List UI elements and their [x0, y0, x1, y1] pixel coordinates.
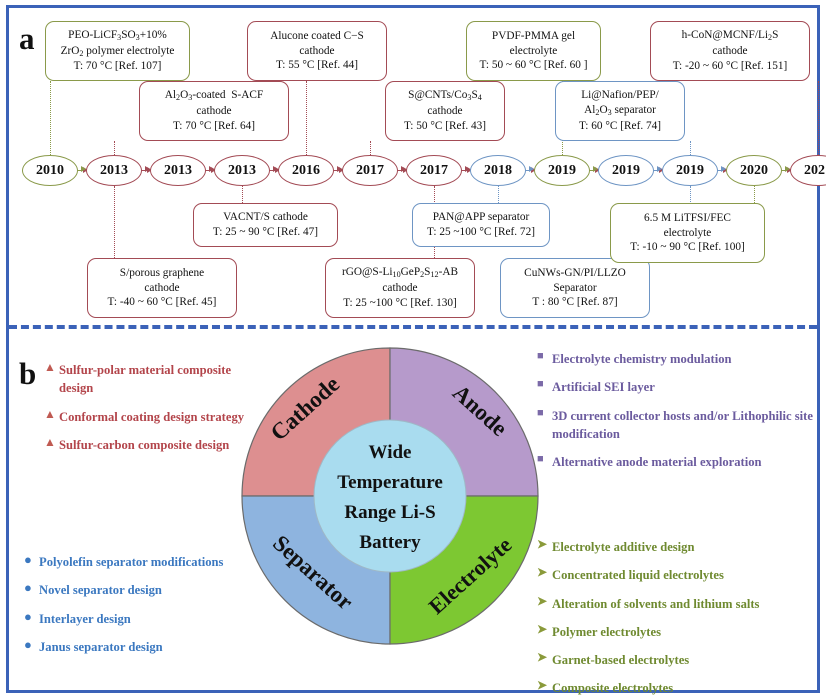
timeline-year-node[interactable]: 2013: [214, 155, 270, 186]
timeline-event-line: PAN@APP separator: [433, 210, 530, 225]
electrolyte-list-item[interactable]: ➤Alteration of solvents and lithium salt…: [537, 595, 815, 613]
timeline-event-line: PVDF-PMMA gel: [492, 29, 575, 44]
timeline-connector: [306, 81, 307, 155]
separator-list-item[interactable]: ●Janus separator design: [24, 638, 259, 656]
timeline-connector: [114, 186, 115, 258]
timeline-event-line: cathode: [299, 44, 334, 59]
timeline-event-line: T: -20 ~ 60 °C [Ref. 151]: [673, 59, 788, 74]
cathode-list-item[interactable]: ▲Sulfur-polar material composite design: [44, 361, 259, 398]
timeline-year-node[interactable]: 2010: [22, 155, 78, 186]
electrolyte-bullet-icon: ➤: [537, 679, 552, 693]
timeline-event-line: T: 25 ~100 °C [Ref. 72]: [427, 225, 535, 240]
wheel-center-line-1: Wide: [369, 442, 412, 463]
timeline-event-line: cathode: [427, 104, 462, 119]
electrolyte-list-item-label: Garnet-based electrolytes: [552, 651, 689, 669]
anode-list-item[interactable]: ■Alternative anode material exploration: [537, 453, 815, 471]
timeline-event-line: PEO-LiCF3SO3+10%: [68, 28, 167, 44]
anode-list-item-label: Electrolyte chemistry modulation: [552, 350, 732, 368]
timeline-event-line: T: 25 ~ 90 °C [Ref. 47]: [213, 225, 318, 240]
timeline-event-line: electrolyte: [510, 44, 558, 59]
timeline-year-node[interactable]: 2013: [86, 155, 142, 186]
timeline-year-node[interactable]: 2018: [470, 155, 526, 186]
wheel-center-line-4: Battery: [359, 532, 421, 553]
cathode-bullet-icon: ▲: [44, 408, 59, 422]
timeline-connector: [754, 186, 755, 203]
timeline-event-line: h-CoN@MCNF/Li2S: [682, 28, 779, 44]
timeline-event-line: T: 70 °C [Ref. 107]: [74, 59, 162, 74]
timeline-event-line: Al2O3-coated S-ACF: [165, 88, 264, 104]
timeline-event-box[interactable]: S/porous graphenecathodeT: -40 ~ 60 °C […: [87, 258, 237, 318]
timeline-event-line: T: 70 °C [Ref. 64]: [173, 119, 255, 134]
cathode-list-item[interactable]: ▲Sulfur-carbon composite design: [44, 436, 259, 454]
electrolyte-bullet-icon: ➤: [537, 595, 552, 609]
strategy-wheel: Cathode Anode Separator Electrolyte Wide…: [240, 341, 540, 651]
timeline-event-box[interactable]: Alucone coated C−ScathodeT: 55 °C [Ref. …: [247, 21, 387, 81]
separator-strategy-list: ●Polyolefin separator modifications●Nove…: [24, 553, 259, 666]
timeline-event-line: T: 60 °C [Ref. 74]: [579, 119, 661, 134]
cathode-list-item[interactable]: ▲Conformal coating design strategy: [44, 408, 259, 426]
timeline-event-line: T: 55 °C [Ref. 44]: [276, 58, 358, 73]
separator-list-item-label: Novel separator design: [39, 581, 162, 599]
timeline-year-node[interactable]: 2017: [406, 155, 462, 186]
timeline-event-line: T : 80 °C [Ref. 87]: [532, 295, 617, 310]
timeline-connector: [498, 186, 499, 203]
timeline-connector: [818, 81, 819, 155]
electrolyte-list-item[interactable]: ➤Composite electrolytes: [537, 679, 815, 697]
timeline-event-line: T: -40 ~ 60 °C [Ref. 45]: [108, 295, 217, 310]
separator-list-item-label: Interlayer design: [39, 610, 131, 628]
timeline-event-line: T: -10 ~ 90 °C [Ref. 100]: [630, 240, 745, 255]
cathode-list-item-label: Sulfur-polar material composite design: [59, 361, 259, 398]
timeline-event-line: cathode: [144, 281, 179, 296]
anode-bullet-icon: ■: [537, 407, 552, 420]
panel-b-label: b: [19, 358, 36, 389]
timeline-event-box[interactable]: CuNWs-GN/PI/LLZOSeparatorT : 80 °C [Ref.…: [500, 258, 650, 318]
anode-bullet-icon: ■: [537, 378, 552, 391]
electrolyte-list-item-label: Electrolyte additive design: [552, 538, 695, 556]
timeline-event-box[interactable]: 6.5 M LiTFSI/FECelectrolyteT: -10 ~ 90 °…: [610, 203, 765, 263]
timeline-year-node[interactable]: 2020: [726, 155, 782, 186]
electrolyte-bullet-icon: ➤: [537, 651, 552, 665]
panel-a-label: a: [19, 23, 35, 54]
anode-strategy-list: ■Electrolyte chemistry modulation■Artifi…: [537, 350, 815, 481]
separator-list-item-label: Janus separator design: [39, 638, 163, 656]
timeline-connector: [242, 186, 243, 203]
timeline-event-line: Alucone coated C−S: [270, 29, 364, 44]
anode-bullet-icon: ■: [537, 453, 552, 466]
timeline-event-line: electrolyte: [664, 226, 712, 241]
timeline-event-box[interactable]: Al2O3-coated S-ACFcathodeT: 70 °C [Ref. …: [139, 81, 289, 141]
electrolyte-list-item[interactable]: ➤Garnet-based electrolytes: [537, 651, 815, 669]
electrolyte-list-item[interactable]: ➤Polymer electrolytes: [537, 623, 815, 641]
electrolyte-bullet-icon: ➤: [537, 538, 552, 552]
wheel-svg: Cathode Anode Separator Electrolyte Wide…: [240, 341, 540, 651]
anode-list-item-label: Alternative anode material exploration: [552, 453, 762, 471]
timeline-event-box[interactable]: rGO@S-Li10GeP2S12-ABcathodeT: 25 ~100 °C…: [325, 258, 475, 318]
electrolyte-list-item[interactable]: ➤Electrolyte additive design: [537, 538, 815, 556]
timeline-event-box[interactable]: PEO-LiCF3SO3+10%ZrO2 polymer electrolyte…: [45, 21, 190, 81]
separator-list-item[interactable]: ●Polyolefin separator modifications: [24, 553, 259, 571]
anode-list-item[interactable]: ■3D current collector hosts and/or Litho…: [537, 407, 815, 444]
timeline-event-line: cathode: [196, 104, 231, 119]
timeline-event-line: S@CNTs/Co3S4: [408, 88, 482, 104]
timeline-event-box[interactable]: VACNT/S cathodeT: 25 ~ 90 °C [Ref. 47]: [193, 203, 338, 247]
timeline-year-node[interactable]: 2019: [598, 155, 654, 186]
electrolyte-bullet-icon: ➤: [537, 623, 552, 637]
wheel-center-line-2: Temperature: [337, 472, 443, 493]
panel-divider: [9, 325, 817, 329]
electrolyte-list-item-label: Composite electrolytes: [552, 679, 673, 697]
separator-list-item-label: Polyolefin separator modifications: [39, 553, 223, 571]
timeline-event-line: T: 50 °C [Ref. 43]: [404, 119, 486, 134]
timeline-year-node[interactable]: 2019: [662, 155, 718, 186]
separator-bullet-icon: ●: [24, 610, 39, 625]
separator-bullet-icon: ●: [24, 581, 39, 596]
electrolyte-list-item-label: Alteration of solvents and lithium salts: [552, 595, 759, 613]
timeline-event-box[interactable]: h-CoN@MCNF/Li2ScathodeT: -20 ~ 60 °C [Re…: [650, 21, 810, 81]
separator-bullet-icon: ●: [24, 553, 39, 568]
electrolyte-bullet-icon: ➤: [537, 566, 552, 580]
anode-list-item[interactable]: ■Electrolyte chemistry modulation: [537, 350, 815, 368]
electrolyte-list-item-label: Polymer electrolytes: [552, 623, 661, 641]
cathode-strategy-list: ▲Sulfur-polar material composite design▲…: [44, 361, 259, 464]
timeline-event-line: ZrO2 polymer electrolyte: [61, 44, 175, 60]
timeline-year-node[interactable]: 2016: [278, 155, 334, 186]
anode-list-item-label: Artificial SEI layer: [552, 378, 655, 396]
timeline-event-line: Separator: [553, 281, 596, 296]
cathode-list-item-label: Sulfur-carbon composite design: [59, 436, 229, 454]
cathode-bullet-icon: ▲: [44, 361, 59, 375]
timeline-event-line: rGO@S-Li10GeP2S12-AB: [342, 265, 458, 281]
cathode-list-item-label: Conformal coating design strategy: [59, 408, 244, 426]
timeline-event-box[interactable]: PAN@APP separatorT: 25 ~100 °C [Ref. 72]: [412, 203, 550, 247]
electrolyte-strategy-list: ➤Electrolyte additive design➤Concentrate…: [537, 538, 815, 700]
wheel-center-line-3: Range Li-S: [344, 502, 435, 523]
timeline-event-line: VACNT/S cathode: [223, 210, 308, 225]
timeline-event-line: S/porous graphene: [120, 266, 204, 281]
separator-list-item[interactable]: ●Interlayer design: [24, 610, 259, 628]
timeline-event-line: cathode: [712, 44, 747, 59]
separator-list-item[interactable]: ●Novel separator design: [24, 581, 259, 599]
electrolyte-list-item[interactable]: ➤Concentrated liquid electrolytes: [537, 566, 815, 584]
figure-root: a b 201020132013201320162017201720182019…: [0, 0, 826, 700]
timeline-event-line: T: 25 ~100 °C [Ref. 130]: [343, 296, 457, 311]
anode-list-item-label: 3D current collector hosts and/or Lithop…: [552, 407, 815, 444]
timeline-event-line: Li@Nafion/PEP/: [581, 88, 659, 103]
timeline-event-line: T: 50 ~ 60 °C [Ref. 60 ]: [480, 58, 588, 73]
timeline-connector: [690, 141, 691, 155]
timeline-event-box[interactable]: Li@Nafion/PEP/Al2O3 separatorT: 60 °C [R…: [555, 81, 685, 141]
timeline-event-line: 6.5 M LiTFSI/FEC: [644, 211, 731, 226]
cathode-bullet-icon: ▲: [44, 436, 59, 450]
timeline-event-box[interactable]: PVDF-PMMA gelelectrolyteT: 50 ~ 60 °C [R…: [466, 21, 601, 81]
anode-list-item[interactable]: ■Artificial SEI layer: [537, 378, 815, 396]
timeline-year-node[interactable]: 2019: [534, 155, 590, 186]
timeline-year-node[interactable]: 2013: [150, 155, 206, 186]
timeline-event-line: cathode: [382, 281, 417, 296]
separator-bullet-icon: ●: [24, 638, 39, 653]
timeline-connector: [114, 141, 115, 155]
timeline-year-node[interactable]: 2017: [342, 155, 398, 186]
anode-bullet-icon: ■: [537, 350, 552, 363]
electrolyte-list-item-label: Concentrated liquid electrolytes: [552, 566, 724, 584]
timeline-connector: [370, 141, 371, 155]
timeline-event-line: Al2O3 separator: [584, 103, 656, 119]
timeline-event-line: CuNWs-GN/PI/LLZO: [524, 266, 626, 281]
timeline-connector: [50, 81, 51, 155]
timeline-event-box[interactable]: S@CNTs/Co3S4cathodeT: 50 °C [Ref. 43]: [385, 81, 505, 141]
